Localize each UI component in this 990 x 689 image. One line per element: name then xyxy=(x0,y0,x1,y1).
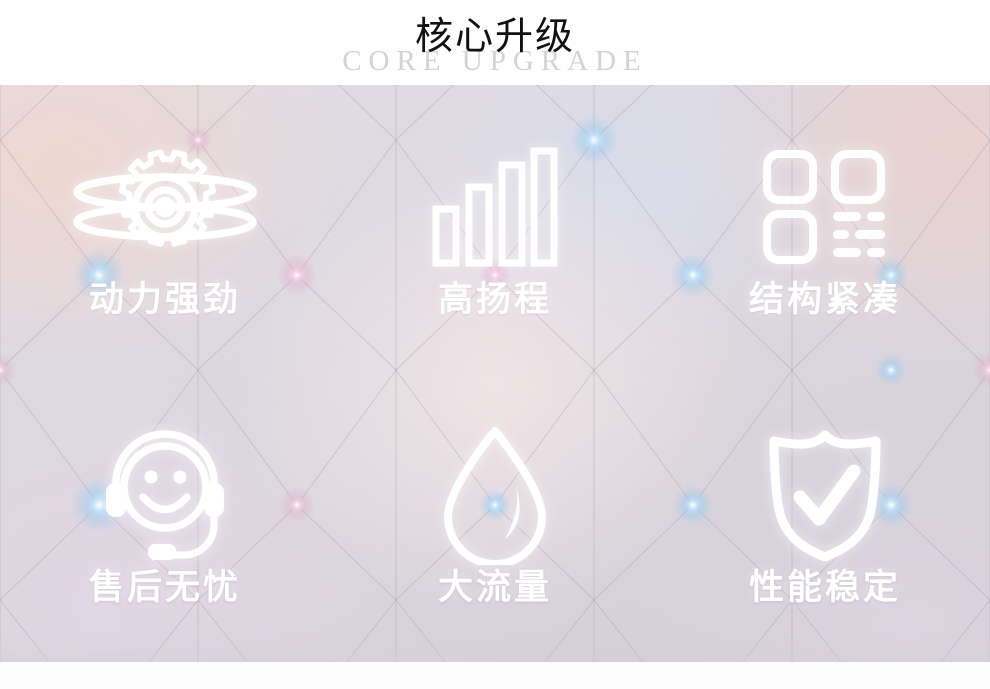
feature-item-flow: 大流量 xyxy=(330,374,660,663)
feature-label-compact: 结构紧凑 xyxy=(749,282,901,317)
hero-background: 动力强劲 高扬程 xyxy=(0,85,990,662)
feature-item-power: 动力强劲 xyxy=(0,85,330,374)
feature-item-head: 高扬程 xyxy=(330,85,660,374)
shield-check-icon xyxy=(762,430,888,560)
feature-label-flow: 大流量 xyxy=(438,570,552,605)
feature-label-power: 动力强劲 xyxy=(89,282,241,317)
page-title-chinese: 核心升级 xyxy=(0,16,990,60)
feature-label-head: 高扬程 xyxy=(438,282,552,317)
grid-layout-icon xyxy=(761,142,889,272)
feature-item-aftersales: 售后无忧 xyxy=(0,374,330,663)
gear-orbit-icon xyxy=(70,142,260,272)
feature-item-compact: 结构紧凑 xyxy=(660,85,990,374)
page-header: CORE UPGRADE 核心升级 xyxy=(0,0,990,85)
feature-item-stable: 性能稳定 xyxy=(660,374,990,663)
headset-smile-icon xyxy=(95,430,235,560)
bar-chart-icon xyxy=(430,142,560,272)
page-root: CORE UPGRADE 核心升级 xyxy=(0,0,990,689)
feature-label-stable: 性能稳定 xyxy=(749,570,901,605)
feature-label-aftersales: 售后无忧 xyxy=(89,570,241,605)
water-drop-icon xyxy=(440,430,550,560)
title-stack: CORE UPGRADE 核心升级 xyxy=(0,0,990,85)
feature-grid: 动力强劲 高扬程 xyxy=(0,85,990,662)
footer-strip xyxy=(0,662,990,689)
